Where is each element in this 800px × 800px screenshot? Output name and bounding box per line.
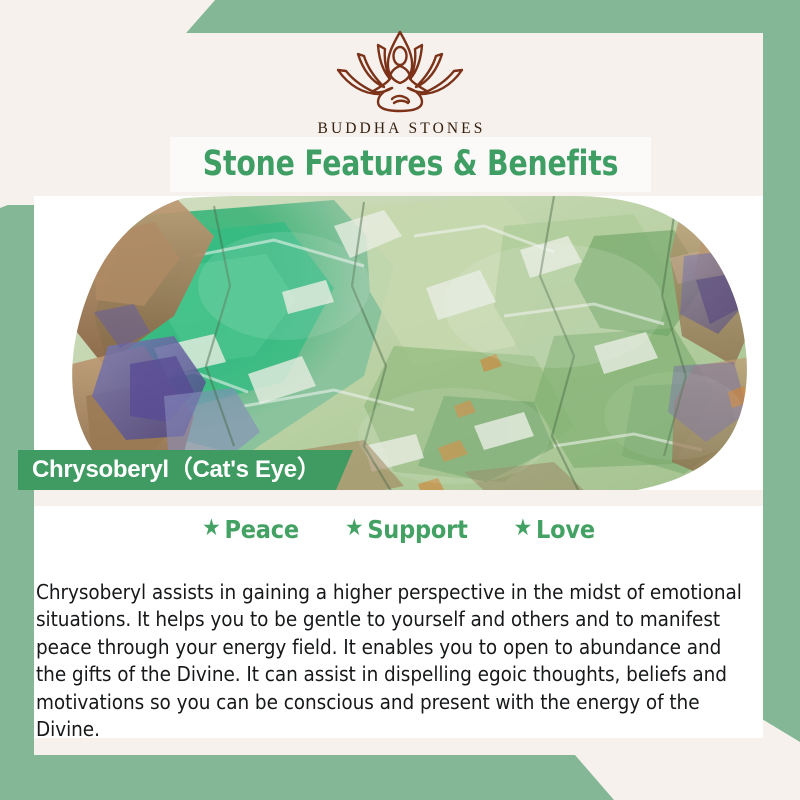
- stone-description: Chrysoberyl assists in gaining a higher …: [36, 579, 742, 744]
- star-icon: ★: [345, 517, 363, 540]
- stone-name-label: Chrysoberyl（Cat's Eye）: [18, 450, 353, 490]
- star-icon: ★: [202, 517, 220, 540]
- frame-band-bottom: [0, 755, 800, 800]
- page-title: Stone Features & Benefits: [194, 138, 627, 190]
- benefit-label-support: Support: [367, 515, 467, 544]
- benefit-label-peace: Peace: [224, 515, 299, 544]
- benefit-item-love: ★ Love: [514, 515, 595, 544]
- content-divider: [34, 490, 763, 506]
- benefit-item-support: ★ Support: [345, 515, 468, 544]
- benefits-row: ★ Peace ★ Support ★ Love: [34, 515, 763, 544]
- benefit-label-love: Love: [536, 515, 595, 544]
- star-icon: ★: [514, 517, 532, 540]
- frame-band-left: [0, 195, 34, 800]
- brand-name: BUDDHA STONES: [0, 120, 800, 138]
- lotus-meditation-icon: [316, 26, 484, 118]
- brand-logo: BUDDHA STONES: [0, 26, 800, 138]
- stone-features-poster: BUDDHA STONES Stone Features & Benefits: [0, 0, 800, 800]
- benefit-item-peace: ★ Peace: [202, 515, 299, 544]
